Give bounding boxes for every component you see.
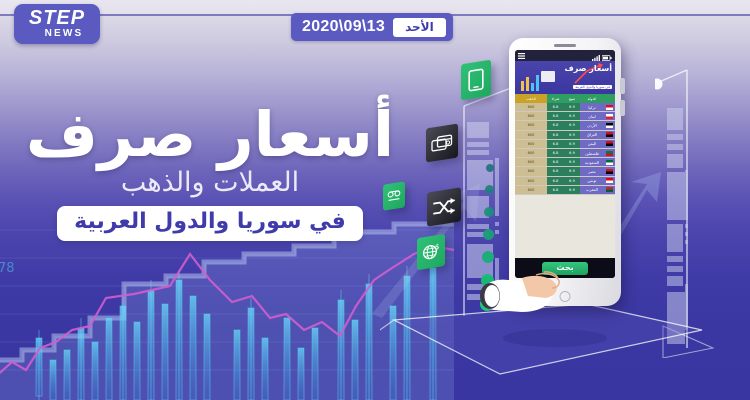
rates-table-body: 6006.86.9تركيا6006.86.9لبنان6006.86.9الأ… [515, 103, 615, 195]
country-flag-icon [606, 187, 613, 192]
cell-buy: 6.8 [547, 177, 564, 185]
country-flag-icon [606, 178, 613, 183]
cell-buy: 6.8 [547, 112, 564, 120]
cell-gold: 600 [515, 186, 547, 194]
date-value: 2020\09\13 [302, 18, 385, 36]
cell-buy: 6.8 [547, 131, 564, 139]
col-gold: الذهب [515, 94, 547, 103]
cell-country: تركيا [580, 103, 604, 111]
phone-status-bar [515, 50, 615, 61]
country-flag-icon [606, 123, 613, 128]
table-row[interactable]: 6006.86.9مصر [515, 167, 615, 176]
cell-gold: 600 [515, 167, 547, 175]
globe-dollar-icon: $ [422, 242, 440, 263]
col-country: الدولة [580, 94, 604, 103]
region-badge: في سوريا والدول العربية [57, 206, 363, 241]
cell-buy: 6.8 [547, 158, 564, 166]
chart-axis-label: 78 [0, 261, 15, 276]
col-flag [604, 94, 615, 103]
cell-flag [604, 121, 615, 129]
mobile-phone-icon-tile[interactable] [461, 60, 491, 101]
cell-country: تونس [580, 177, 604, 185]
cell-sell: 6.9 [564, 158, 580, 166]
cell-sell: 6.9 [564, 177, 580, 185]
cell-flag [604, 149, 615, 157]
cell-buy: 6.8 [547, 103, 564, 111]
rates-table-header: الذهب شراء مبيع الدولة [515, 94, 615, 103]
cell-flag [604, 186, 615, 194]
poster-canvas: 78 STEP NEWS 2020\09\13 الأحد أسعار صرف … [0, 0, 750, 400]
currency-exchange-arrows-icon [433, 196, 455, 217]
col-sell: مبيع [564, 94, 580, 103]
country-flag-icon [606, 141, 613, 146]
cell-sell: 6.9 [564, 131, 580, 139]
cell-sell: 6.9 [564, 140, 580, 148]
progress-dot-3 [484, 207, 494, 217]
country-flag-icon [606, 151, 613, 156]
app-banner-title: أسعار صرف [564, 64, 612, 73]
currency-exchange-arrows-icon-tile[interactable] [427, 187, 461, 226]
progress-dot-2 [485, 185, 494, 194]
cell-flag [604, 167, 615, 175]
rates-table: الذهب شراء مبيع الدولة 6006.86.9تركيا600… [515, 94, 615, 258]
headline-block: أسعار صرف العملات والذهب في سوريا والدول… [0, 102, 420, 241]
table-row[interactable]: 6006.86.9المغرب [515, 186, 615, 195]
cell-flag [604, 177, 615, 185]
cell-country: مصر [580, 167, 604, 175]
logo-news-text: NEWS [45, 28, 84, 39]
cell-gold: 600 [515, 131, 547, 139]
cell-buy: 6.8 [547, 186, 564, 194]
table-row[interactable]: 6006.86.9السعودية [515, 158, 615, 167]
cell-gold: 600 [515, 158, 547, 166]
credit-cards-icon [431, 133, 453, 153]
step-news-logo[interactable]: STEP NEWS [14, 4, 100, 44]
cell-sell: 6.9 [564, 112, 580, 120]
cell-country: الأردن [580, 121, 604, 129]
cell-sell: 6.9 [564, 103, 580, 111]
hand-tapping-illustration [478, 262, 564, 322]
cell-sell: 6.9 [564, 167, 580, 175]
cell-gold: 600 [515, 112, 547, 120]
phone-speaker [554, 44, 576, 47]
phone-volume-button-down[interactable] [620, 100, 625, 116]
progress-dot-4 [483, 229, 494, 240]
cell-flag [604, 103, 615, 111]
logo-step-text: STEP [29, 9, 85, 28]
cell-gold: 600 [515, 140, 547, 148]
page-title: أسعار صرف [0, 102, 420, 168]
progress-dot-1 [486, 164, 494, 172]
country-flag-icon [606, 105, 613, 110]
date-badge: 2020\09\13 الأحد [291, 13, 453, 41]
table-row[interactable]: 6006.86.9اليمن [515, 140, 615, 149]
phone-volume-button-up[interactable] [620, 78, 625, 94]
table-row[interactable]: 6006.86.9فلسطين [515, 149, 615, 158]
mobile-phone-icon [468, 68, 484, 93]
cell-country: فلسطين [580, 149, 604, 157]
cell-flag [604, 158, 615, 166]
page-subtitle: العملات والذهب [0, 166, 420, 200]
table-row[interactable]: 6006.86.9تركيا [515, 103, 615, 112]
table-row[interactable]: 6006.86.9لبنان [515, 112, 615, 121]
cell-flag [604, 112, 615, 120]
cell-country: السعودية [580, 158, 604, 166]
hamburger-menu-icon[interactable] [518, 53, 525, 59]
phone-screen: أسعار صرف في سوريا والدول العربية الذهب … [515, 50, 615, 278]
table-row[interactable]: 6006.86.9الأردن [515, 121, 615, 130]
col-buy: شراء [547, 94, 564, 103]
country-flag-icon [606, 132, 613, 137]
country-flag-icon [606, 114, 613, 119]
cell-buy: 6.8 [547, 167, 564, 175]
globe-dollar-icon-tile[interactable]: $ [417, 234, 445, 270]
cell-buy: 6.8 [547, 121, 564, 129]
cell-country: المغرب [580, 186, 604, 194]
cell-buy: 6.8 [547, 140, 564, 148]
cell-country: اليمن [580, 140, 604, 148]
cell-flag [604, 140, 615, 148]
credit-cards-icon-tile[interactable] [426, 123, 458, 162]
table-row[interactable]: 6006.86.9العراق [515, 131, 615, 140]
cell-country: لبنان [580, 112, 604, 120]
table-row[interactable]: 6006.86.9تونس [515, 177, 615, 186]
cell-gold: 600 [515, 103, 547, 111]
money-transfer-icon [387, 187, 401, 204]
cell-country: العراق [580, 131, 604, 139]
country-flag-icon [606, 169, 613, 174]
cell-gold: 600 [515, 121, 547, 129]
money-transfer-icon-tile[interactable] [383, 181, 405, 210]
cell-sell: 6.9 [564, 121, 580, 129]
country-flag-icon [606, 160, 613, 165]
cell-gold: 600 [515, 149, 547, 157]
cell-gold: 600 [515, 177, 547, 185]
weekday-badge: الأحد [393, 18, 446, 37]
cell-sell: 6.9 [564, 149, 580, 157]
app-banner-subtitle: في سوريا والدول العربية [573, 85, 612, 89]
app-header-banner: أسعار صرف في سوريا والدول العربية [515, 61, 615, 94]
cell-sell: 6.9 [564, 186, 580, 194]
svg-text:$: $ [435, 242, 439, 252]
cell-buy: 6.8 [547, 149, 564, 157]
cell-flag [604, 131, 615, 139]
